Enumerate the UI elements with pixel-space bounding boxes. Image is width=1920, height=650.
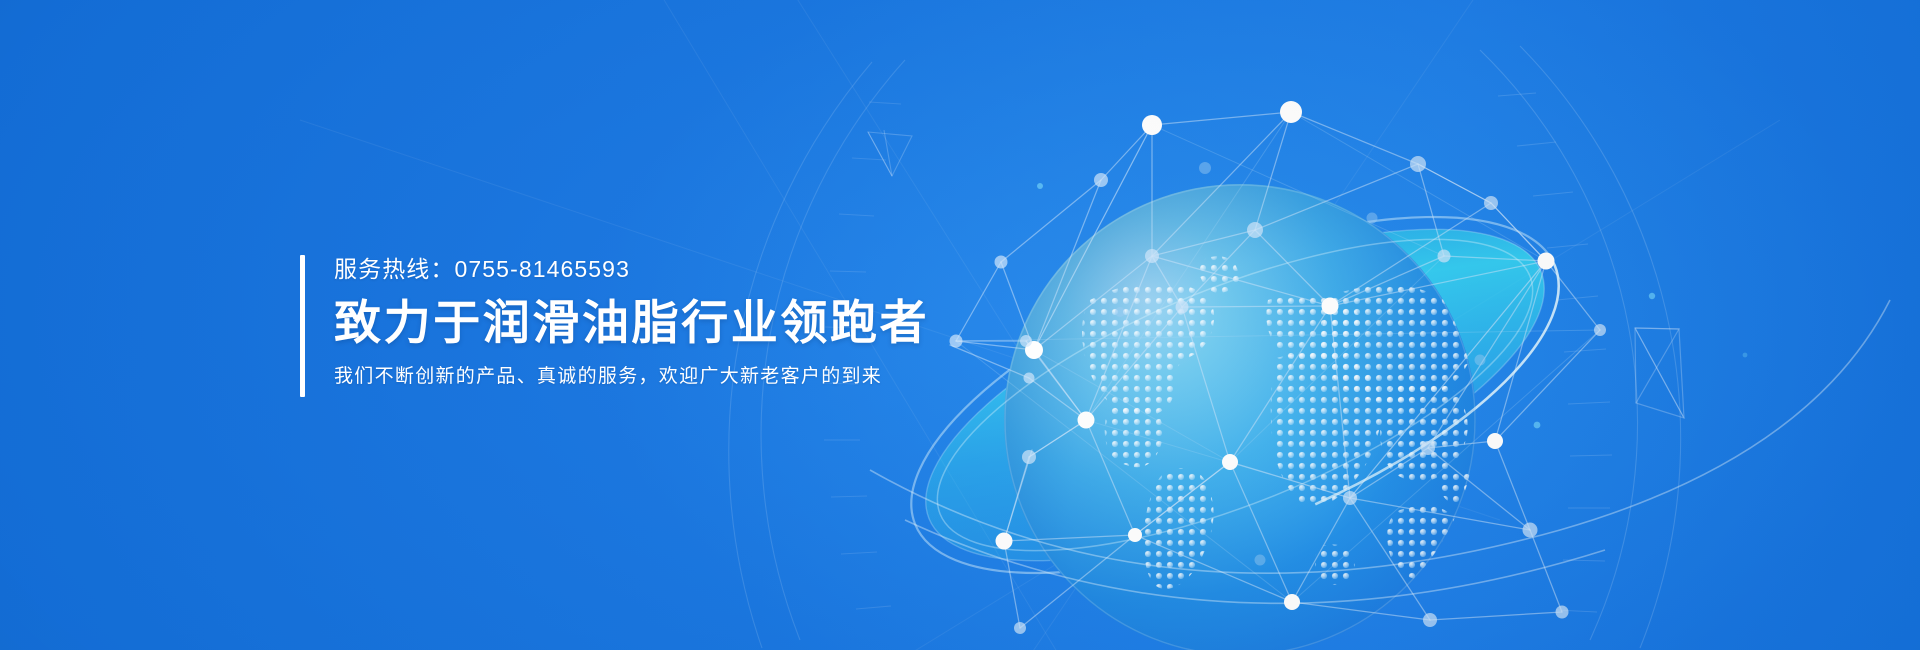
accent-bar: [300, 255, 305, 397]
subheadline-text: 我们不断创新的产品、真诚的服务，欢迎广大新老客户的到来: [334, 362, 1094, 392]
hotline-text: 服务热线：0755-81465593: [334, 252, 1094, 286]
hero-text-block: 服务热线：0755-81465593 致力于润滑油脂行业领跑者 我们不断创新的产…: [300, 252, 1094, 392]
headline-text: 致力于润滑油脂行业领跑者: [334, 292, 1094, 354]
hero-banner: 服务热线：0755-81465593 致力于润滑油脂行业领跑者 我们不断创新的产…: [0, 0, 1920, 650]
